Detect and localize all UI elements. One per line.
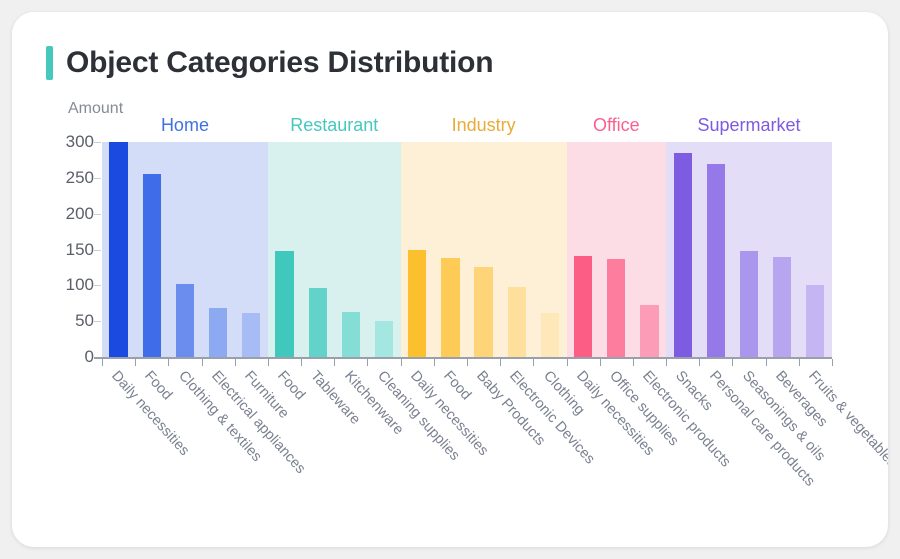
bar-slot [600, 142, 633, 357]
x-axis-tick [832, 359, 833, 366]
bar-slot [202, 142, 235, 357]
bar-slot [301, 142, 334, 357]
y-axis-tick-label: 50 [75, 311, 94, 331]
bar-group-industry: Industry [401, 142, 567, 357]
x-axis-tick [367, 359, 368, 366]
gridline [94, 321, 101, 322]
gridline [94, 214, 101, 215]
bar[interactable] [143, 174, 161, 357]
bar-group-supermarket: Supermarket [666, 142, 832, 357]
y-axis-labels: 300250200150100500 [50, 142, 94, 357]
x-axis-tick [235, 359, 236, 366]
x-axis-tick [102, 359, 103, 366]
x-axis-tick [202, 359, 203, 366]
bar-slot [235, 142, 268, 357]
y-axis-tick-label: 100 [66, 275, 94, 295]
x-axis-tick [600, 359, 601, 366]
gridline [94, 142, 101, 143]
bar[interactable] [508, 287, 526, 357]
gridline [94, 178, 101, 179]
group-label-office: Office [567, 115, 667, 136]
bar-slot [135, 142, 168, 357]
y-axis-tick-label: 200 [66, 204, 94, 224]
bar-group-restaurant: Restaurant [268, 142, 401, 357]
gridline [94, 285, 101, 286]
x-axis-tick [135, 359, 136, 366]
y-axis-tick-label: 150 [66, 240, 94, 260]
x-axis-tick [401, 359, 402, 366]
x-axis-tick [301, 359, 302, 366]
x-axis-tick [500, 359, 501, 366]
x-axis-tick [732, 359, 733, 366]
group-label-industry: Industry [401, 115, 567, 136]
y-axis-tick-label: 250 [66, 168, 94, 188]
bar-slot [334, 142, 367, 357]
group-label-restaurant: Restaurant [268, 115, 401, 136]
y-axis-tick-label: 0 [85, 347, 94, 367]
bar[interactable] [541, 313, 559, 357]
bar[interactable] [441, 258, 459, 357]
bar[interactable] [342, 312, 360, 357]
bar-slot [467, 142, 500, 357]
x-axis-tick [799, 359, 800, 366]
bar-groups: HomeRestaurantIndustryOfficeSupermarket [102, 142, 832, 357]
bar[interactable] [773, 257, 791, 357]
x-axis-tick [567, 359, 568, 366]
bar-slot [633, 142, 666, 357]
bar[interactable] [375, 321, 393, 357]
group-label-supermarket: Supermarket [666, 115, 832, 136]
bar-slot [367, 142, 400, 357]
x-axis-tick [467, 359, 468, 366]
bar[interactable] [740, 251, 758, 357]
chart-header: Object Categories Distribution [46, 46, 493, 80]
bar-slot [699, 142, 732, 357]
bar-slot [401, 142, 434, 357]
x-axis-tick [533, 359, 534, 366]
x-axis-tick [334, 359, 335, 366]
bar[interactable] [275, 251, 293, 357]
bar-slot [102, 142, 135, 357]
bar[interactable] [309, 288, 327, 357]
bar[interactable] [408, 250, 426, 358]
y-axis-tick-label: 300 [66, 132, 94, 152]
x-axis-tick [434, 359, 435, 366]
title-accent-bar [46, 46, 53, 80]
bar-slot [666, 142, 699, 357]
bar-slot [567, 142, 600, 357]
bar[interactable] [707, 164, 725, 358]
x-axis-tick [168, 359, 169, 366]
bar-slot [168, 142, 201, 357]
bar-slot [500, 142, 533, 357]
x-axis-tick [699, 359, 700, 366]
page-title: Object Categories Distribution [66, 46, 493, 80]
x-axis-tick [633, 359, 634, 366]
bar[interactable] [109, 142, 127, 357]
bar-slot [732, 142, 765, 357]
bar-group-office: Office [567, 142, 667, 357]
bar[interactable] [607, 259, 625, 357]
bar-slot [533, 142, 566, 357]
plot-area: HomeRestaurantIndustryOfficeSupermarket [102, 142, 832, 357]
bar[interactable] [674, 153, 692, 357]
group-label-home: Home [102, 115, 268, 136]
chart-card: Object Categories Distribution Amount 30… [12, 12, 888, 547]
x-axis-labels: Daily necessitiesFoodClothing & textiles… [102, 368, 832, 528]
x-axis-tick [666, 359, 667, 366]
bar[interactable] [474, 267, 492, 357]
bar[interactable] [209, 308, 227, 357]
bar-slot [766, 142, 799, 357]
bar-slot [799, 142, 832, 357]
bar-slot [434, 142, 467, 357]
x-axis-tick [268, 359, 269, 366]
bar[interactable] [806, 285, 824, 357]
bar[interactable] [640, 305, 658, 357]
bar[interactable] [574, 256, 592, 357]
x-axis-ticks [102, 359, 832, 366]
bar[interactable] [242, 313, 260, 357]
gridline [94, 250, 101, 251]
bar-slot [268, 142, 301, 357]
bar-group-home: Home [102, 142, 268, 357]
x-axis-tick [766, 359, 767, 366]
bar[interactable] [176, 284, 194, 357]
